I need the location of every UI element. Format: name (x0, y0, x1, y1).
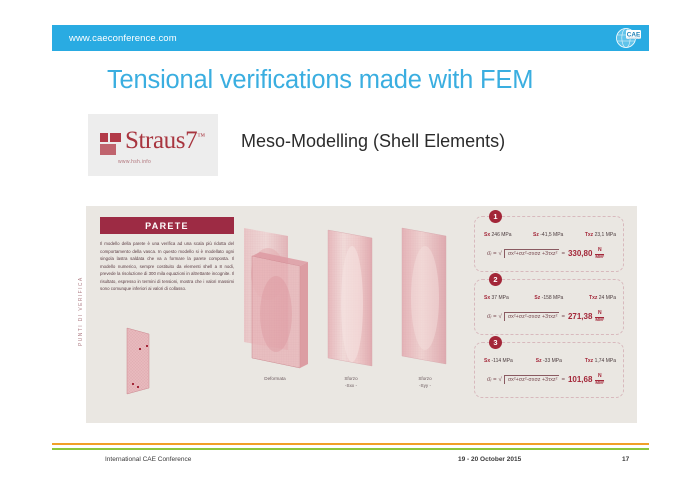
formula-badge: 3 (489, 336, 502, 349)
formula-body: σx²+σz²-σxσz +3τxz² (504, 312, 560, 321)
punti-di-verifica-label: PUNTI DI VERIFICA (78, 276, 84, 346)
formula-stress-values: Sx 246 MPa Sz -41,5 MPa Txz 23,1 MPa (484, 232, 616, 238)
formula-badge: 2 (489, 273, 502, 286)
txz-label: Txz (585, 358, 593, 364)
parete-card-header: PARETE (100, 217, 234, 234)
figure-caption-deformata: Deformata (245, 376, 305, 383)
figure-deformata (238, 222, 316, 377)
formula-stress-values: Sx 37 MPa Sz -158 MPa Txz 24 MPa (484, 295, 616, 301)
sigma-symbol: σᵢ = (487, 251, 497, 257)
sigma-symbol: σᵢ = (487, 377, 497, 383)
formula-card-2: 2 Sx 37 MPa Sz -158 MPa Txz 24 MPa σᵢ = … (474, 279, 624, 335)
parete-card: PARETE Il modello della parete è una ver… (100, 217, 234, 293)
formula-unit: N MM² (595, 248, 604, 259)
formula-body: σx²+σz²-σxσz +3τxz² (504, 375, 560, 384)
formula-list: 1 Sx 246 MPa Sz -41,5 MPa Txz 23,1 MPa σ… (474, 216, 624, 405)
figure-caption-line1: Deformata (264, 376, 285, 381)
sz-value: -158 MPa (542, 295, 564, 301)
unit-denominator: MM² (595, 381, 604, 386)
footer-page-number: 17 (622, 456, 629, 463)
straus7-number: 7 (185, 127, 197, 154)
formula-body: σx²+σz²-σxσz +3τxz² (504, 249, 560, 258)
cae-logo-subtext: CONFERENCE (626, 38, 641, 40)
sigma-symbol: σᵢ = (487, 314, 497, 320)
fem-figures: Deformata Sforzo -Sxx - (238, 218, 468, 414)
unit-denominator: MM² (595, 255, 604, 260)
txz-value: 1,74 MPa (595, 358, 616, 364)
sx-label: Sx (484, 358, 490, 364)
sz-value: -33 MPa (543, 358, 562, 364)
straus7-wordmark: Straus7™ (125, 128, 205, 153)
txz-label: Txz (589, 295, 597, 301)
formula-unit: N MM² (595, 374, 604, 385)
formula-equals: = (561, 251, 565, 257)
footer-rule-orange (52, 443, 649, 445)
section-subtitle: Meso-Modelling (Shell Elements) (241, 131, 505, 152)
txz-value: 24 MPa (599, 295, 616, 301)
sx-value: 37 MPa (492, 295, 509, 301)
wall-sketch-diagram (113, 324, 163, 398)
header-url[interactable]: www.caeconference.com (69, 33, 177, 44)
txz-value: 23,1 MPa (595, 232, 616, 238)
txz-label: Txz (585, 232, 593, 238)
header-bar: www.caeconference.com CAE CONFERENCE (52, 25, 649, 51)
unit-denominator: MM² (595, 318, 604, 323)
parete-card-text: Il modello della parete è una verifica a… (100, 240, 234, 293)
sx-label: Sx (484, 232, 490, 238)
figure-sforzo-sxx (322, 226, 380, 377)
cae-logo-icon: CAE CONFERENCE (615, 27, 643, 49)
straus7-url: www.hsh.info (118, 159, 151, 165)
formula-badge: 1 (489, 210, 502, 223)
straus7-squares-icon (100, 133, 122, 155)
formula-result: 101,68 (568, 375, 592, 384)
formula-equation: σᵢ = √ σx²+σz²-σxσz +3τxz² = 271,38 N MM… (487, 311, 604, 322)
footer-date: 19 - 20 October 2015 (458, 456, 521, 463)
figure-caption-line2: -Syy - (419, 383, 431, 388)
figure-caption-sforzo-syy: Sforzo -Syy - (395, 376, 455, 390)
radical-icon: √ (499, 251, 502, 257)
trademark-icon: ™ (197, 132, 204, 141)
figure-caption-line2: -Sxx - (345, 383, 357, 388)
formula-equation: σᵢ = √ σx²+σz²-σxσz +3τxz² = 101,68 N MM… (487, 374, 604, 385)
radical-icon: √ (499, 314, 502, 320)
page-title: Tensional verifications made with FEM (107, 66, 533, 95)
footer-conference-name: International CAE Conference (105, 456, 191, 463)
radical-icon: √ (499, 377, 502, 383)
formula-unit: N MM² (595, 311, 604, 322)
sx-value: 246 MPa (492, 232, 512, 238)
formula-stress-values: Sx -114 MPa Sz -33 MPa Txz 1,74 MPa (484, 358, 616, 364)
figure-caption-line1: Sforzo (344, 376, 357, 381)
sx-label: Sx (484, 295, 490, 301)
sz-value: -41,5 MPa (540, 232, 563, 238)
formula-equals: = (561, 377, 565, 383)
straus7-word: Straus (125, 127, 185, 154)
sz-label: Sz (533, 232, 539, 238)
slide: www.caeconference.com CAE CONFERENCE Ten… (0, 0, 700, 494)
formula-result: 330,80 (568, 249, 592, 258)
formula-card-1: 1 Sx 246 MPa Sz -41,5 MPa Txz 23,1 MPa σ… (474, 216, 624, 272)
content-panel: PARETE Il modello della parete è una ver… (86, 206, 637, 423)
figure-sforzo-syy (396, 224, 454, 375)
parete-card-title: PARETE (145, 221, 189, 231)
footer-rule-green (52, 448, 649, 450)
figure-caption-line1: Sforzo (418, 376, 431, 381)
formula-card-3: 3 Sx -114 MPa Sz -33 MPa Txz 1,74 MPa σᵢ… (474, 342, 624, 398)
sx-value: -114 MPa (492, 358, 513, 364)
formula-equation: σᵢ = √ σx²+σz²-σxσz +3τxz² = 330,80 N MM… (487, 248, 604, 259)
sz-label: Sz (534, 295, 540, 301)
figure-caption-sforzo-sxx: Sforzo -Sxx - (321, 376, 381, 390)
formula-equals: = (561, 314, 565, 320)
formula-result: 271,38 (568, 312, 592, 321)
straus7-logo: Straus7™ www.hsh.info (88, 114, 218, 176)
sz-label: Sz (536, 358, 542, 364)
